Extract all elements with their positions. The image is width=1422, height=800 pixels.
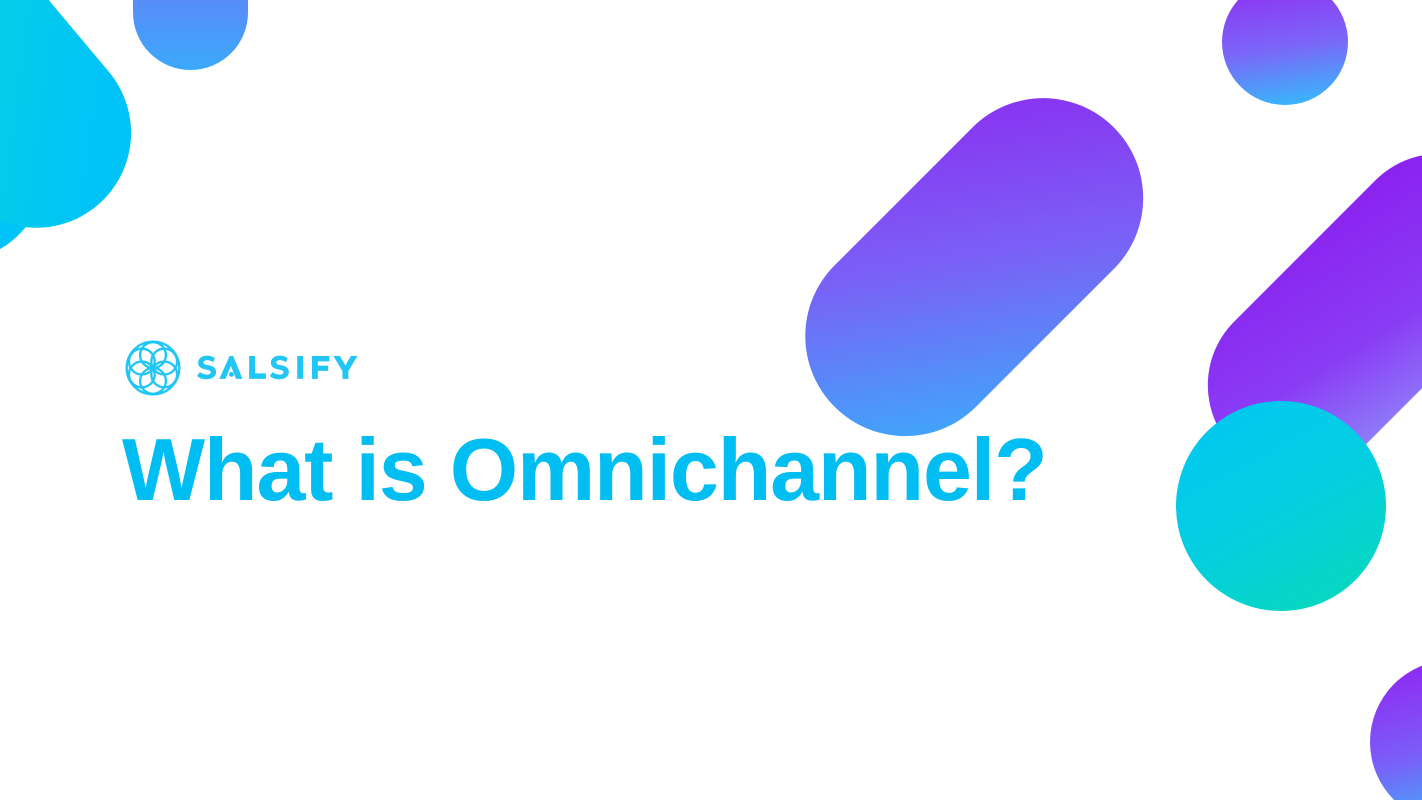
page-title: What is Omnichannel? xyxy=(122,424,1047,516)
salsify-logo-lockup xyxy=(125,340,384,396)
salsify-rosette-icon xyxy=(125,340,181,396)
title-slide: What is Omnichannel? xyxy=(0,0,1422,800)
salsify-wordmark xyxy=(197,351,384,385)
slide-content: What is Omnichannel? xyxy=(0,0,1422,800)
